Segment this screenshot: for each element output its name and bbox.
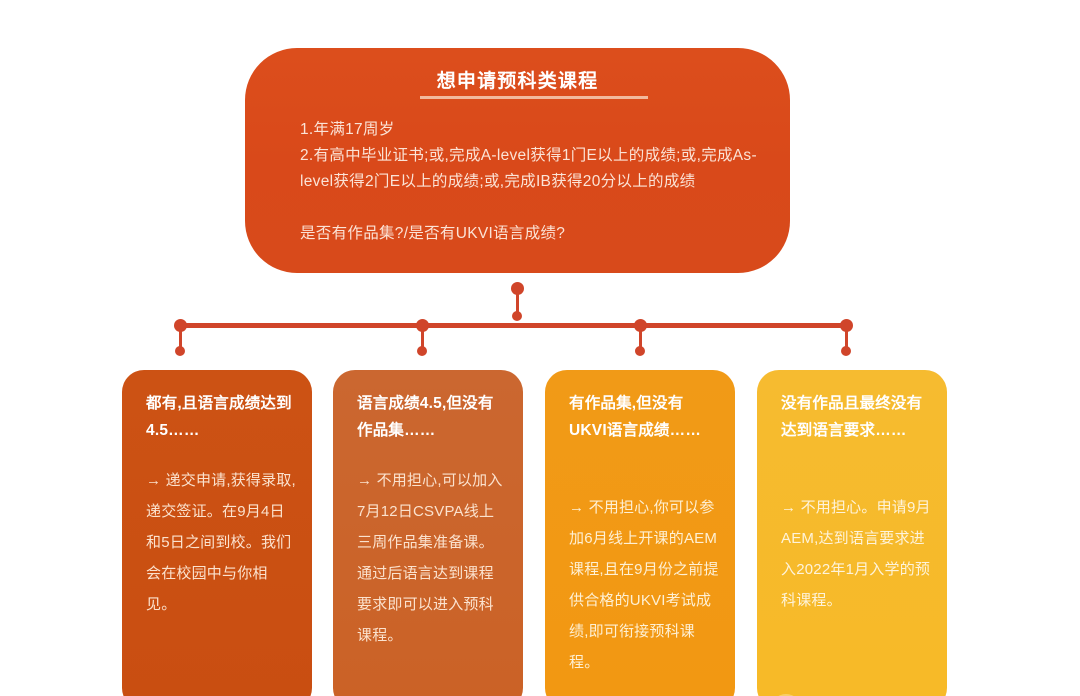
branch-card-0: 都有,且语言成绩达到4.5…… → 递交申请,获得录取,递交签证。在9月4日和5…: [122, 370, 312, 696]
branch-end-dot-2: [635, 346, 645, 356]
branch-body-2: → 不用担心,你可以参加6月线上开课的AEM课程,且在9月份之前提供合格的UKV…: [569, 492, 719, 678]
branch-end-dot-0: [175, 346, 185, 356]
horizontal-bus-line: [180, 323, 846, 328]
branch-card-1: 语言成绩4.5,但没有作品集…… → 不用担心,可以加入7月12日CSVPA线上…: [333, 370, 523, 696]
flowchart-diagram: 想申请预科类课程 1.年满17周岁 2.有高中毕业证书;或,完成A-level获…: [0, 0, 1080, 696]
stem-bottom-dot: [512, 311, 522, 321]
branch-end-dot-3: [841, 346, 851, 356]
branch-end-dot-1: [417, 346, 427, 356]
branch-heading-3: 没有作品且最终没有达到语言要求……: [781, 390, 931, 444]
branch-heading-2: 有作品集,但没有UKVI语言成绩……: [569, 390, 719, 444]
branch-heading-1: 语言成绩4.5,但没有作品集……: [357, 390, 507, 444]
branch-card-2: 有作品集,但没有UKVI语言成绩…… → 不用担心,你可以参加6月线上开课的AE…: [545, 370, 735, 696]
branch-heading-0: 都有,且语言成绩达到4.5……: [146, 390, 296, 444]
branch-body-1: → 不用担心,可以加入7月12日CSVPA线上三周作品集准备课。通过后语言达到课…: [357, 465, 507, 651]
branch-card-3: 没有作品且最终没有达到语言要求…… → 不用担心。申请9月AEM,达到语言要求进…: [757, 370, 947, 696]
branch-body-3: → 不用担心。申请9月AEM,达到语言要求进入2022年1月入学的预科课程。: [781, 492, 931, 616]
branch-body-0: → 递交申请,获得录取,递交签证。在9月4日和5日之间到校。我们会在校园中与你相…: [146, 465, 296, 620]
